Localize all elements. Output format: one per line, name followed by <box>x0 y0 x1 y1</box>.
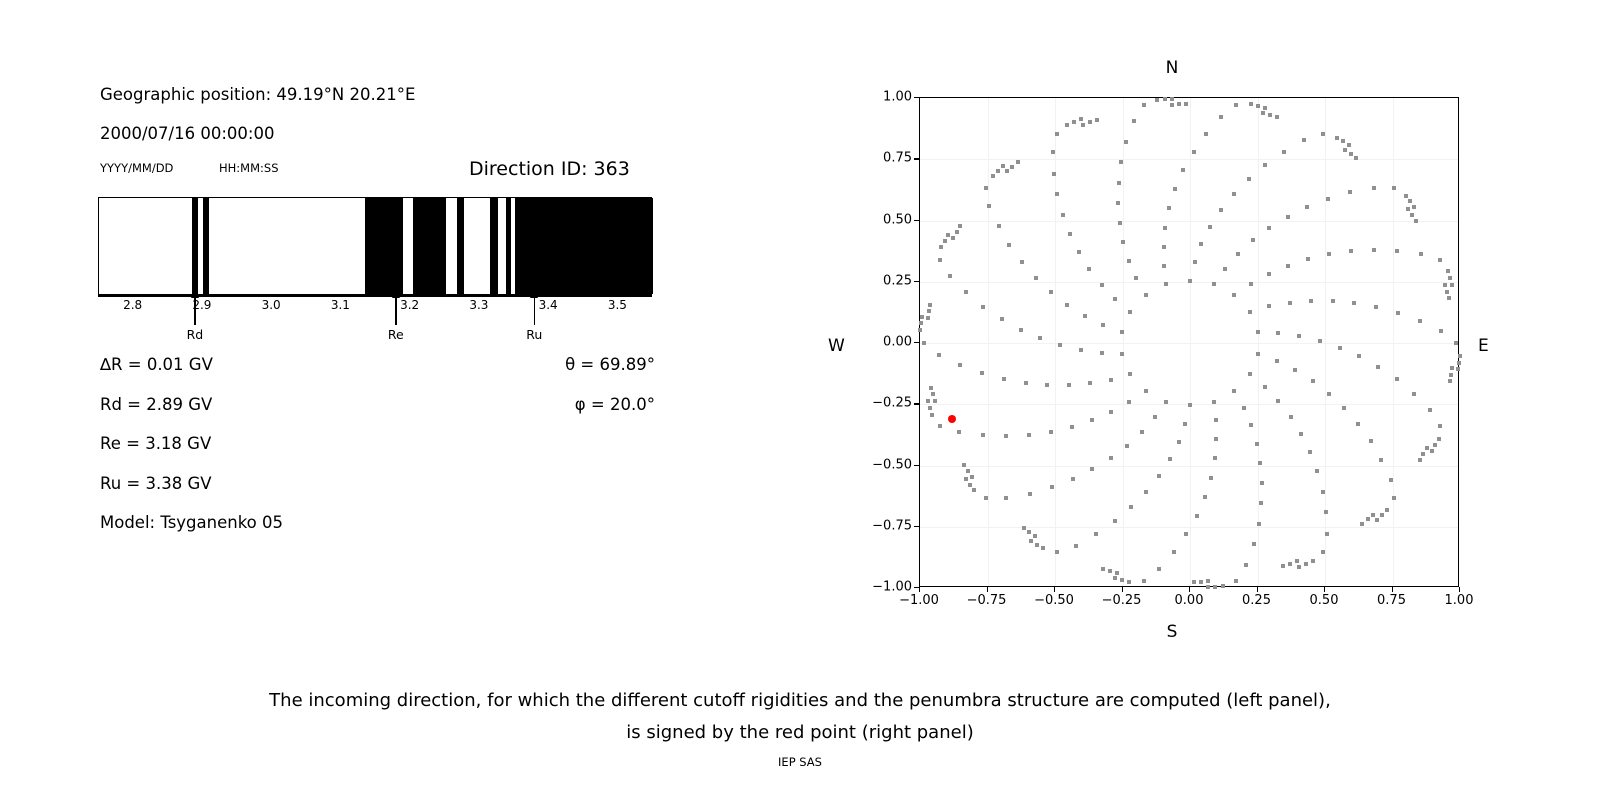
direction-point <box>1302 138 1306 142</box>
gridline-vertical <box>1393 98 1394 586</box>
x-tick-mark <box>1459 587 1460 592</box>
direction-point <box>970 475 974 479</box>
direction-point <box>1117 181 1121 185</box>
direction-point <box>1213 456 1217 460</box>
y-tick-mark <box>914 158 919 159</box>
direction-point <box>1168 457 1172 461</box>
direction-point <box>1016 160 1020 164</box>
direction-point <box>1299 432 1303 436</box>
figure-caption: The incoming direction, for which the di… <box>0 685 1600 749</box>
direction-point <box>1342 406 1346 410</box>
direction-point <box>1448 276 1452 280</box>
direction-point <box>1335 136 1339 140</box>
direction-point <box>1001 164 1005 168</box>
direction-point <box>1443 283 1447 287</box>
direction-point <box>1144 389 1148 393</box>
gridline-vertical <box>988 98 989 586</box>
direction-point <box>1052 172 1056 176</box>
compass-label-east: E <box>1478 336 1489 356</box>
direction-point <box>955 230 959 234</box>
direction-point <box>1268 113 1272 117</box>
direction-point <box>1247 177 1251 181</box>
direction-point <box>1318 339 1322 343</box>
direction-point <box>1418 319 1422 323</box>
direction-point <box>1412 392 1416 396</box>
rigidity-marker-label: Re <box>388 327 404 342</box>
direction-point <box>938 424 942 428</box>
direction-point <box>1389 478 1393 482</box>
direction-point <box>1324 510 1328 514</box>
direction-point <box>1289 415 1293 419</box>
direction-point <box>1132 119 1136 123</box>
time-format-hint: HH:MM:SS <box>219 161 279 175</box>
direction-point <box>1055 132 1059 136</box>
direction-point <box>1129 505 1133 509</box>
direction-point <box>1338 346 1342 350</box>
direction-point <box>972 488 976 492</box>
direction-point <box>1058 343 1062 347</box>
direction-point <box>1209 476 1213 480</box>
direction-point <box>1421 452 1425 456</box>
penumbra-band <box>490 198 498 294</box>
direction-point <box>1263 385 1267 389</box>
direction-point <box>1116 201 1120 205</box>
direction-point <box>1244 563 1248 567</box>
direction-point <box>1297 565 1301 569</box>
rigidity-marker-label: Rd <box>187 327 204 342</box>
direction-point <box>1366 517 1370 521</box>
direction-point <box>1051 150 1055 154</box>
direction-point <box>951 236 955 240</box>
direction-point <box>1067 383 1071 387</box>
x-tick-label: 0.75 <box>1377 593 1406 608</box>
direction-point <box>1070 425 1074 429</box>
direction-point <box>1380 513 1384 517</box>
direction-point <box>1113 576 1117 580</box>
date-format-hint: YYYY/MM/DD <box>100 161 173 175</box>
gridline-horizontal <box>920 159 1458 160</box>
direction-point <box>1267 226 1271 230</box>
direction-point <box>1408 199 1412 203</box>
direction-point <box>1045 383 1049 387</box>
parameter-line: Rd = 2.89 GV <box>100 395 212 414</box>
direction-point <box>1309 299 1313 303</box>
direction-point <box>1068 232 1072 236</box>
y-tick-label: 0.50 <box>883 212 912 227</box>
x-tick-label: 0.00 <box>1175 593 1204 608</box>
direction-point <box>1446 269 1450 273</box>
direction-point <box>1349 152 1353 156</box>
direction-point <box>1433 443 1437 447</box>
direction-point <box>1035 543 1039 547</box>
direction-point <box>1163 97 1167 101</box>
gridline-horizontal <box>920 527 1458 528</box>
direction-point <box>928 406 932 410</box>
direction-point <box>1414 219 1418 223</box>
direction-point <box>1371 513 1375 517</box>
penumbra-bar <box>98 197 652 295</box>
direction-point <box>1311 559 1315 563</box>
direction-point <box>1167 206 1171 210</box>
direction-point <box>1267 304 1271 308</box>
direction-point <box>1311 379 1315 383</box>
direction-point <box>1199 242 1203 246</box>
direction-point <box>1305 205 1309 209</box>
direction-point <box>1321 132 1325 136</box>
direction-point <box>1445 290 1449 294</box>
y-tick-mark <box>914 526 919 527</box>
direction-point <box>1410 213 1414 217</box>
direction-point <box>1449 373 1453 377</box>
direction-point <box>1395 249 1399 253</box>
direction-point <box>1038 336 1042 340</box>
direction-point <box>1412 205 1416 209</box>
direction-point <box>1234 579 1238 583</box>
direction-id-label: Direction ID: 363 <box>469 158 630 180</box>
direction-point <box>1212 400 1216 404</box>
direction-point <box>1360 522 1364 526</box>
gridline-horizontal <box>920 221 1458 222</box>
direction-point <box>1125 444 1129 448</box>
direction-point <box>1055 550 1059 554</box>
y-tick-label: 0.00 <box>883 335 912 350</box>
direction-point <box>1101 567 1105 571</box>
direction-point <box>1326 197 1330 201</box>
direction-point <box>1206 579 1210 583</box>
direction-point <box>1234 103 1238 107</box>
direction-point <box>1065 303 1069 307</box>
direction-point <box>1029 539 1033 543</box>
direction-point <box>1221 584 1225 588</box>
direction-point <box>1157 474 1161 478</box>
x-tick-mark <box>1257 587 1258 592</box>
direction-point <box>1034 276 1038 280</box>
y-tick-label: 0.25 <box>883 273 912 288</box>
direction-point <box>1276 399 1280 403</box>
direction-point <box>1293 368 1297 372</box>
direction-point <box>1252 542 1256 546</box>
direction-point <box>1033 534 1037 538</box>
direction-point <box>1223 267 1227 271</box>
direction-point <box>962 463 966 467</box>
direction-point <box>1027 530 1031 534</box>
compass-label-south: S <box>1167 622 1178 642</box>
direction-point <box>1083 314 1087 318</box>
direction-point <box>1050 485 1054 489</box>
direction-point <box>1396 311 1400 315</box>
direction-point <box>922 341 926 345</box>
direction-point <box>1162 264 1166 268</box>
direction-map-frame <box>919 97 1459 587</box>
direction-point <box>1288 301 1292 305</box>
direction-point <box>1163 226 1167 230</box>
direction-point <box>1232 389 1236 393</box>
direction-point <box>1019 328 1023 332</box>
direction-point <box>987 204 991 208</box>
y-tick-label: −0.25 <box>872 396 912 411</box>
direction-point <box>1372 186 1376 190</box>
direction-point <box>1242 406 1246 410</box>
penumbra-band <box>365 198 402 294</box>
direction-point <box>1162 245 1166 249</box>
direction-point <box>928 303 932 307</box>
direction-point <box>1004 496 1008 500</box>
direction-point <box>1374 305 1378 309</box>
parameter-line: Ru = 3.38 GV <box>100 474 212 493</box>
direction-point <box>1144 293 1148 297</box>
geographic-position-label: Geographic position: 49.19°N 20.21°E <box>100 85 415 104</box>
direction-point <box>966 469 970 473</box>
parameter-line: ∆R = 0.01 GV <box>100 355 213 374</box>
direction-point <box>1282 150 1286 154</box>
direction-point <box>1428 408 1432 412</box>
direction-point <box>1124 140 1128 144</box>
direction-point <box>1109 456 1113 460</box>
direction-point <box>1164 400 1168 404</box>
direction-point <box>1115 571 1119 575</box>
direction-point <box>1385 508 1389 512</box>
penumbra-band <box>457 198 464 294</box>
direction-point <box>1236 252 1240 256</box>
direction-point <box>1007 243 1011 247</box>
direction-point <box>1448 379 1452 383</box>
direction-point <box>1134 276 1138 280</box>
direction-point <box>1204 132 1208 136</box>
direction-point <box>1425 446 1429 450</box>
direction-point <box>1128 310 1132 314</box>
direction-point <box>1249 423 1253 427</box>
direction-point <box>1192 150 1196 154</box>
selected-direction-point[interactable] <box>948 415 956 423</box>
x-tick-label: −0.25 <box>1102 593 1142 608</box>
direction-point <box>1372 248 1376 252</box>
direction-point <box>1267 272 1271 276</box>
direction-point <box>1065 123 1069 127</box>
angle-parameter-line: φ = 20.0° <box>575 395 655 414</box>
direction-point <box>1321 550 1325 554</box>
direction-point <box>1450 283 1454 287</box>
direction-point <box>1195 514 1199 518</box>
direction-point <box>1375 518 1379 522</box>
direction-point <box>1275 359 1279 363</box>
direction-point <box>1259 501 1263 505</box>
direction-point <box>1127 580 1131 584</box>
direction-point <box>1153 415 1157 419</box>
direction-point <box>1327 392 1331 396</box>
direction-point <box>1002 377 1006 381</box>
direction-point <box>937 353 941 357</box>
direction-point <box>946 233 950 237</box>
direction-point <box>1263 163 1267 167</box>
parameter-line: Re = 3.18 GV <box>100 434 211 453</box>
direction-point <box>1061 213 1065 217</box>
direction-point <box>1392 496 1396 500</box>
direction-point <box>926 399 930 403</box>
direction-point <box>1232 192 1236 196</box>
direction-point <box>1297 334 1301 338</box>
arrow-shaft <box>395 297 397 325</box>
direction-map-chart: −1.00−0.75−0.50−0.250.000.250.500.751.00… <box>919 97 1459 587</box>
direction-point <box>1088 120 1092 124</box>
direction-point <box>1348 190 1352 194</box>
direction-point <box>948 274 952 278</box>
direction-point <box>1113 519 1117 523</box>
direction-point <box>958 224 962 228</box>
direction-point <box>1404 194 1408 198</box>
direction-point <box>1447 296 1451 300</box>
direction-point <box>1438 424 1442 428</box>
direction-point <box>1430 449 1434 453</box>
gridline-vertical <box>1123 98 1124 586</box>
direction-point <box>1094 532 1098 536</box>
x-tick-mark <box>1324 587 1325 592</box>
direction-point <box>1079 348 1083 352</box>
direction-point <box>984 496 988 500</box>
direction-point <box>1327 252 1331 256</box>
direction-point <box>1074 544 1078 548</box>
direction-point <box>1379 458 1383 462</box>
x-tick-mark <box>919 587 920 592</box>
y-tick-label: −0.75 <box>872 518 912 533</box>
y-tick-mark <box>914 403 919 404</box>
direction-point <box>1184 102 1188 106</box>
direction-point <box>981 305 985 309</box>
direction-point <box>1109 410 1113 414</box>
direction-point <box>1325 532 1329 536</box>
y-tick-label: 1.00 <box>883 90 912 105</box>
direction-point <box>1206 585 1210 589</box>
gridline-horizontal <box>920 343 1458 344</box>
rigidity-annotations: RdReRu <box>98 290 652 345</box>
direction-point <box>1079 117 1083 121</box>
direction-point <box>1120 330 1124 334</box>
direction-point <box>1172 550 1176 554</box>
direction-point <box>1090 418 1094 422</box>
direction-point <box>1315 469 1319 473</box>
direction-point <box>1213 585 1217 589</box>
direction-point <box>1203 495 1207 499</box>
direction-point <box>919 321 923 325</box>
direction-point <box>1041 546 1045 550</box>
direction-point <box>1257 522 1261 526</box>
y-tick-mark <box>914 465 919 466</box>
direction-point <box>1120 352 1124 356</box>
direction-point <box>1281 564 1285 568</box>
direction-point <box>1438 258 1442 262</box>
datetime-label: 2000/07/16 00:00:00 <box>100 124 274 143</box>
direction-point <box>1295 559 1299 563</box>
direction-point <box>1454 341 1458 345</box>
direction-point <box>1321 490 1325 494</box>
direction-point <box>1022 526 1026 530</box>
y-tick-mark <box>914 281 919 282</box>
direction-point <box>964 477 968 481</box>
direction-point <box>997 224 1001 228</box>
direction-point <box>1088 381 1092 385</box>
direction-point <box>938 258 942 262</box>
direction-point <box>1199 580 1203 584</box>
direction-point <box>1288 562 1292 566</box>
direction-point <box>1214 437 1218 441</box>
direction-point <box>1071 477 1075 481</box>
direction-point <box>929 386 933 390</box>
direction-point <box>1357 354 1361 358</box>
direction-point <box>1256 104 1260 108</box>
x-tick-label: 0.50 <box>1310 593 1339 608</box>
direction-point <box>1232 293 1236 297</box>
x-tick-label: 1.00 <box>1445 593 1474 608</box>
direction-point <box>1456 367 1460 371</box>
direction-point <box>1341 139 1345 143</box>
compass-label-west: W <box>828 336 845 356</box>
direction-point <box>1087 267 1091 271</box>
x-tick-mark <box>1054 587 1055 592</box>
direction-point <box>1120 578 1124 582</box>
direction-point <box>1100 283 1104 287</box>
direction-point <box>1251 238 1255 242</box>
x-tick-mark <box>987 587 988 592</box>
direction-point <box>1100 351 1104 355</box>
direction-point <box>927 309 931 313</box>
direction-point <box>939 245 943 249</box>
direction-point <box>1275 115 1279 119</box>
direction-point <box>1419 252 1423 256</box>
direction-point <box>1081 123 1085 127</box>
direction-point <box>958 363 962 367</box>
arrow-shaft <box>534 297 536 325</box>
direction-point <box>1439 329 1443 333</box>
direction-point <box>1256 330 1260 334</box>
direction-point <box>1437 437 1441 441</box>
direction-point <box>1286 264 1290 268</box>
direction-point <box>1249 282 1253 286</box>
x-tick-label: −1.00 <box>899 593 939 608</box>
direction-point <box>1214 418 1218 422</box>
direction-point <box>1392 186 1396 190</box>
direction-point <box>1090 467 1094 471</box>
direction-point <box>1121 240 1125 244</box>
direction-point <box>1369 439 1373 443</box>
direction-point <box>1020 260 1024 264</box>
direction-point <box>1142 579 1146 583</box>
direction-point <box>968 483 972 487</box>
direction-point <box>1170 103 1174 107</box>
direction-point <box>1144 490 1148 494</box>
direction-point <box>1109 378 1113 382</box>
direction-point <box>1181 168 1185 172</box>
direction-point <box>933 399 937 403</box>
direction-point <box>964 290 968 294</box>
direction-point <box>1450 366 1454 370</box>
arrow-shaft <box>194 297 196 325</box>
direction-point <box>984 186 988 190</box>
direction-point <box>980 371 984 375</box>
direction-point <box>1155 98 1159 102</box>
direction-point <box>996 169 1000 173</box>
direction-point <box>1458 354 1462 358</box>
direction-point <box>1193 260 1197 264</box>
direction-point <box>1140 430 1144 434</box>
direction-point <box>981 433 985 437</box>
direction-point <box>1219 115 1223 119</box>
x-tick-mark <box>1392 587 1393 592</box>
x-tick-mark <box>1122 587 1123 592</box>
direction-point <box>1304 562 1308 566</box>
angle-parameter-line: θ = 69.89° <box>565 355 655 374</box>
y-tick-mark <box>914 342 919 343</box>
direction-point <box>1376 365 1380 369</box>
direction-point <box>1286 215 1290 219</box>
